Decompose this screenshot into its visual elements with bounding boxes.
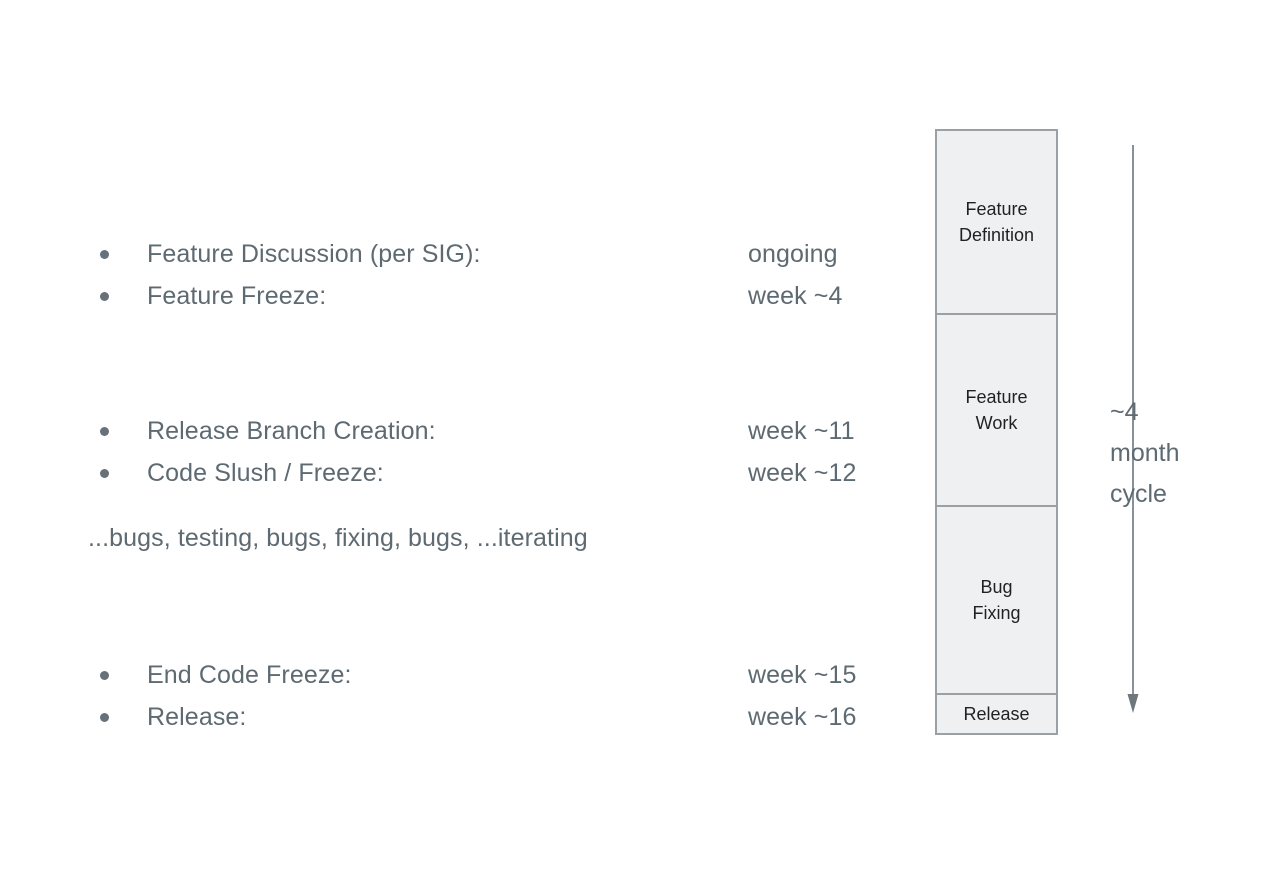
schedule-row-label: Code Slush / Freeze: bbox=[147, 452, 384, 494]
schedule-row-value: week ~16 bbox=[748, 696, 857, 738]
iteration-note: ...bugs, testing, bugs, fixing, bugs, ..… bbox=[88, 524, 588, 553]
phase-label-bug-fixing: Bug Fixing bbox=[972, 574, 1020, 626]
phase-label-feature-definition: Feature Definition bbox=[959, 196, 1034, 248]
phase-label-line2: Fixing bbox=[972, 603, 1020, 623]
bullet-icon bbox=[100, 292, 109, 301]
phase-label-line1: Release bbox=[963, 704, 1029, 724]
bullet-icon bbox=[100, 427, 109, 436]
timeline-bar: Feature Definition Feature Work Bug Fixi… bbox=[935, 129, 1058, 735]
schedule-row-label: Release Branch Creation: bbox=[147, 410, 436, 452]
phase-block-feature-work: Feature Work bbox=[937, 313, 1056, 505]
phase-label-line1: Feature bbox=[965, 199, 1027, 219]
bullet-icon bbox=[100, 250, 109, 259]
phase-label-feature-work: Feature Work bbox=[965, 384, 1027, 436]
bullet-icon bbox=[100, 713, 109, 722]
schedule-row-value: week ~11 bbox=[748, 410, 855, 452]
cycle-caption-line3: cycle bbox=[1110, 474, 1179, 515]
bullet-icon bbox=[100, 469, 109, 478]
phase-label-line2: Definition bbox=[959, 225, 1034, 245]
phase-label-line2: Work bbox=[976, 413, 1018, 433]
cycle-duration-caption: ~4 month cycle bbox=[1110, 392, 1179, 515]
slide-canvas: Feature Discussion (per SIG): ongoing Fe… bbox=[0, 0, 1280, 895]
phase-label-release: Release bbox=[963, 701, 1029, 727]
cycle-caption-line1: ~4 bbox=[1110, 392, 1179, 433]
schedule-row-value: ongoing bbox=[748, 233, 838, 275]
schedule-row-label: Release: bbox=[147, 696, 246, 738]
schedule-row-label: Feature Discussion (per SIG): bbox=[147, 233, 481, 275]
phase-label-line1: Bug bbox=[980, 577, 1012, 597]
schedule-row-value: week ~12 bbox=[748, 452, 857, 494]
schedule-row-label: Feature Freeze: bbox=[147, 275, 326, 317]
schedule-row-value: week ~4 bbox=[748, 275, 843, 317]
phase-block-feature-definition: Feature Definition bbox=[937, 131, 1056, 313]
cycle-caption-line2: month bbox=[1110, 433, 1179, 474]
schedule-row-value: week ~15 bbox=[748, 654, 857, 696]
phase-block-bug-fixing: Bug Fixing bbox=[937, 505, 1056, 693]
phase-block-release: Release bbox=[937, 693, 1056, 733]
schedule-row-label: End Code Freeze: bbox=[147, 654, 352, 696]
phase-label-line1: Feature bbox=[965, 387, 1027, 407]
bullet-icon bbox=[100, 671, 109, 680]
